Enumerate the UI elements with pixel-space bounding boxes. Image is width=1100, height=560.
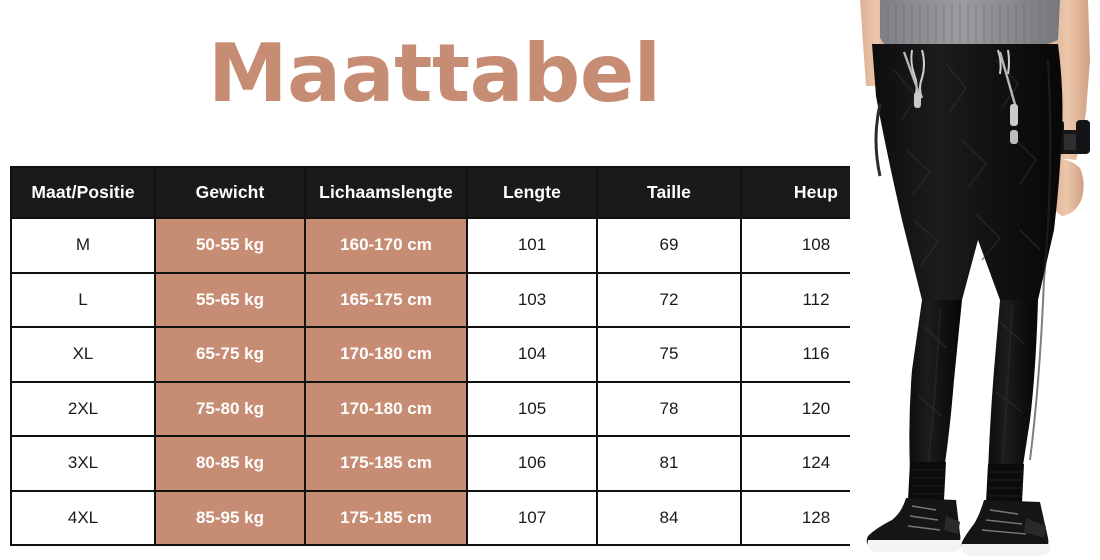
cell-taille: 84 [597,491,741,546]
cell-taille: 81 [597,436,741,491]
quilted-texture [894,60,1040,416]
table-row: 4XL 85-95 kg 175-185 cm 107 84 128 [11,491,891,546]
cell-lichaamslengte: 165-175 cm [305,273,467,328]
size-chart-page: Maattabel Maat/Positie Gewicht Lichaamsl… [0,0,1100,560]
cell-heup: 124 [741,436,891,491]
cell-maat: 3XL [11,436,155,491]
pants-zip-pocket-left [904,52,921,108]
table-row: 2XL 75-80 kg 170-180 cm 105 78 120 [11,382,891,437]
column-header-gewicht: Gewicht [155,167,305,218]
model-sweater [880,0,1060,44]
cell-lengte: 101 [467,218,597,273]
cell-heup: 112 [741,273,891,328]
cell-heup: 128 [741,491,891,546]
table-row: 3XL 80-85 kg 175-185 cm 106 81 124 [11,436,891,491]
cell-lengte: 104 [467,327,597,382]
wristwatch [1052,130,1086,154]
cell-maat: 4XL [11,491,155,546]
pants-seam-lines [928,60,1050,468]
column-header-maat-positie: Maat/Positie [11,167,155,218]
cell-gewicht: 50-55 kg [155,218,305,273]
model-pants-upper [872,44,1063,300]
pants-cuff-right [986,464,1024,502]
cell-gewicht: 80-85 kg [155,436,305,491]
cell-maat: L [11,273,155,328]
cell-maat: M [11,218,155,273]
sweater-rib-texture [888,4,1048,43]
cell-lengte: 105 [467,382,597,437]
cell-heup: 120 [741,382,891,437]
table-header-row: Maat/Positie Gewicht Lichaamslengte Leng… [11,167,891,218]
cell-lengte: 107 [467,491,597,546]
model-left-arm [860,0,894,86]
model-pants-left-leg [909,300,962,470]
cell-lichaamslengte: 175-185 cm [305,436,467,491]
pants-drawstring [911,50,1009,98]
table-row: M 50-55 kg 160-170 cm 101 69 108 [11,218,891,273]
column-header-lengte: Lengte [467,167,597,218]
cell-gewicht: 75-80 kg [155,382,305,437]
cell-lengte: 106 [467,436,597,491]
size-chart-table: Maat/Positie Gewicht Lichaamslengte Leng… [10,166,892,546]
cell-lichaamslengte: 160-170 cm [305,218,467,273]
sneaker-right [962,500,1051,556]
model-right-hand [1050,158,1084,216]
cell-taille: 72 [597,273,741,328]
cell-maat: XL [11,327,155,382]
cell-taille: 75 [597,327,741,382]
table-header: Maat/Positie Gewicht Lichaamslengte Leng… [11,167,891,218]
cell-lichaamslengte: 170-180 cm [305,382,467,437]
cell-heup: 108 [741,218,891,273]
model-right-arm [1046,0,1090,160]
table-body: M 50-55 kg 160-170 cm 101 69 108 L 55-65… [11,218,891,545]
cell-gewicht: 55-65 kg [155,273,305,328]
cell-maat: 2XL [11,382,155,437]
cell-lichaamslengte: 175-185 cm [305,491,467,546]
table-row: L 55-65 kg 165-175 cm 103 72 112 [11,273,891,328]
column-header-taille: Taille [597,167,741,218]
cell-lengte: 103 [467,273,597,328]
cell-gewicht: 65-75 kg [155,327,305,382]
cell-taille: 78 [597,382,741,437]
cell-gewicht: 85-95 kg [155,491,305,546]
cell-taille: 69 [597,218,741,273]
table-row: XL 65-75 kg 170-180 cm 104 75 116 [11,327,891,382]
cell-heup: 116 [741,327,891,382]
pants-zip-pocket-right [1000,52,1018,144]
column-header-heup: Heup [741,167,891,218]
column-header-lichaamslengte: Lichaamslengte [305,167,467,218]
page-title: Maattabel [208,26,678,122]
model-pants-right-leg [988,300,1038,472]
cell-lichaamslengte: 170-180 cm [305,327,467,382]
pants-cuff-left [908,462,946,500]
